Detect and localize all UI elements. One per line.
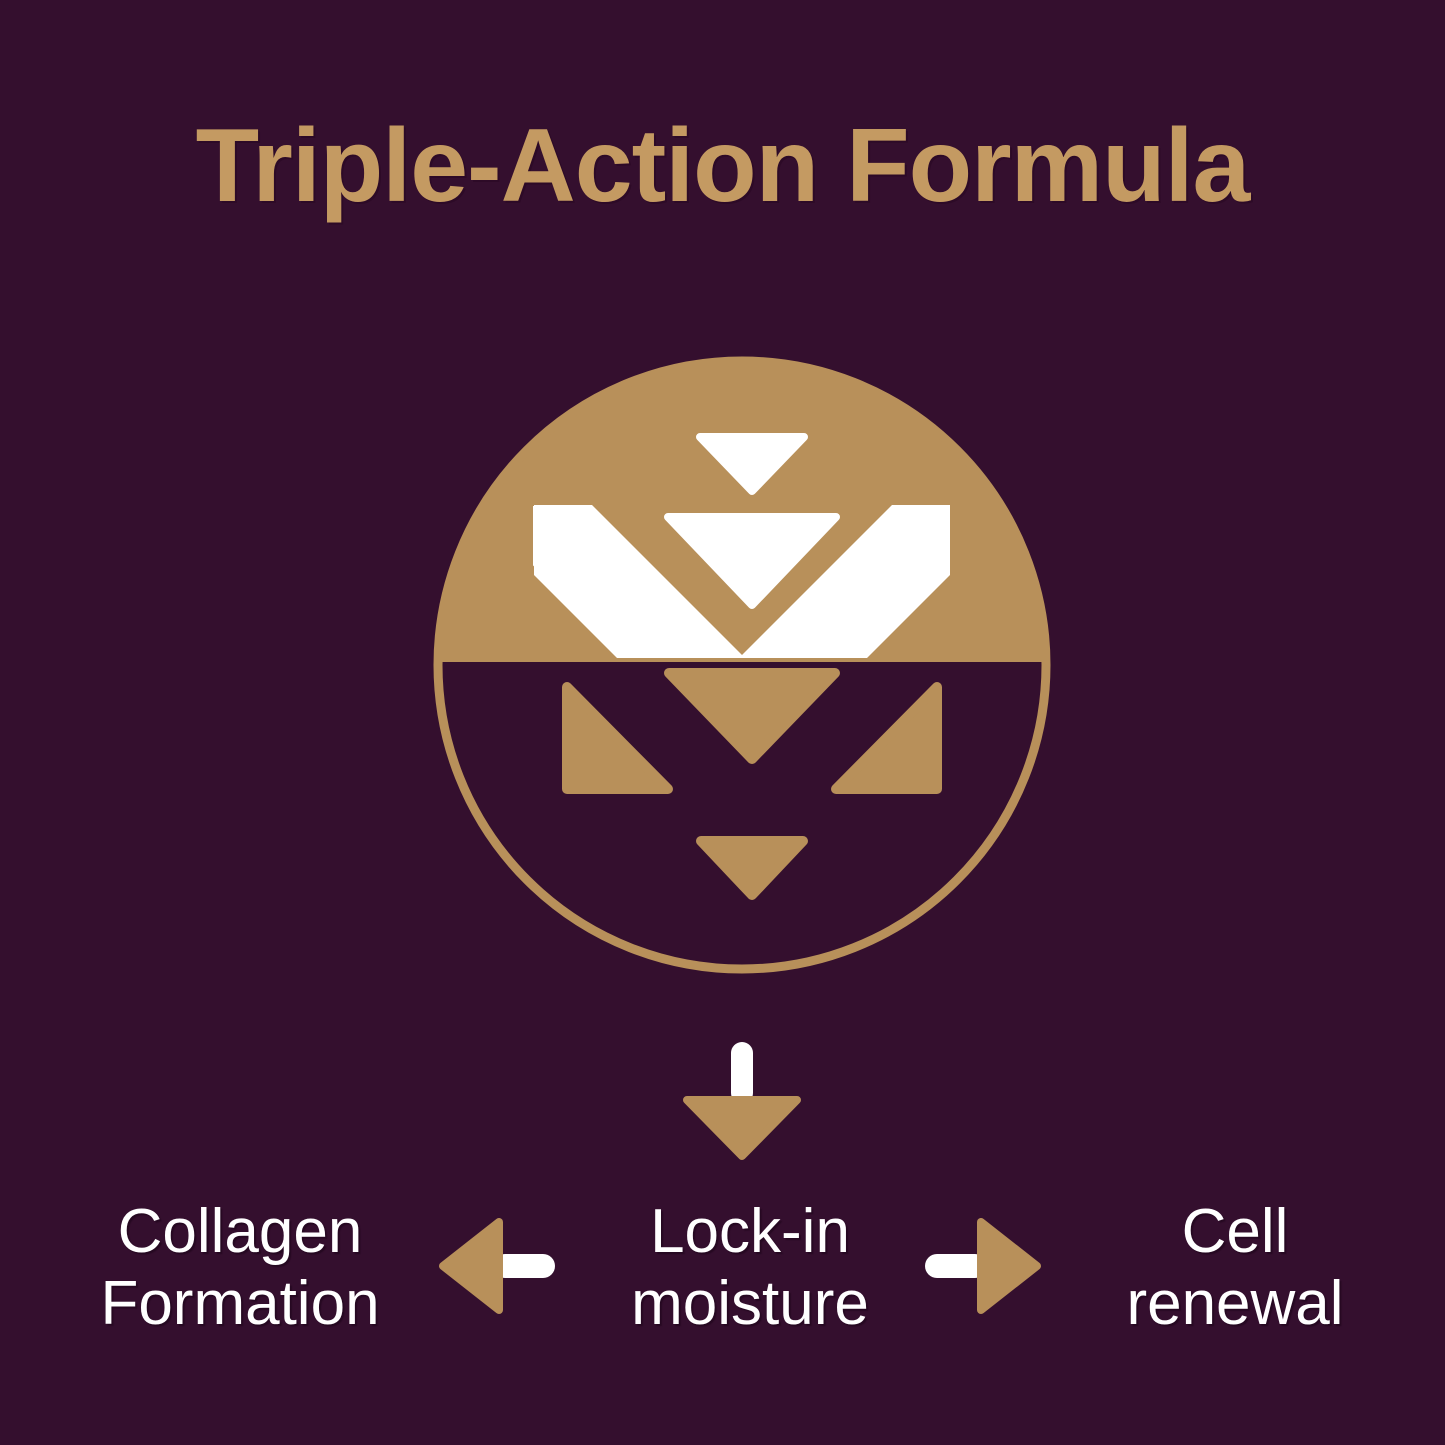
down-arrow-icon <box>677 1038 807 1160</box>
right-arrow-icon <box>923 1218 1043 1314</box>
left-arrow-icon <box>437 1218 557 1314</box>
benefit-label-moisture: Lock-in moisture <box>575 1196 925 1340</box>
infographic-canvas: Triple-Action Formula <box>0 0 1445 1445</box>
benefit-label-renewal: Cell renewal <box>1055 1196 1415 1340</box>
benefits-row: Collagen Formation Lock-in moisture Cell… <box>0 1196 1445 1396</box>
triple-action-emblem-icon <box>432 355 1052 975</box>
page-title: Triple-Action Formula <box>0 112 1445 221</box>
benefit-label-collagen: Collagen Formation <box>60 1196 420 1340</box>
